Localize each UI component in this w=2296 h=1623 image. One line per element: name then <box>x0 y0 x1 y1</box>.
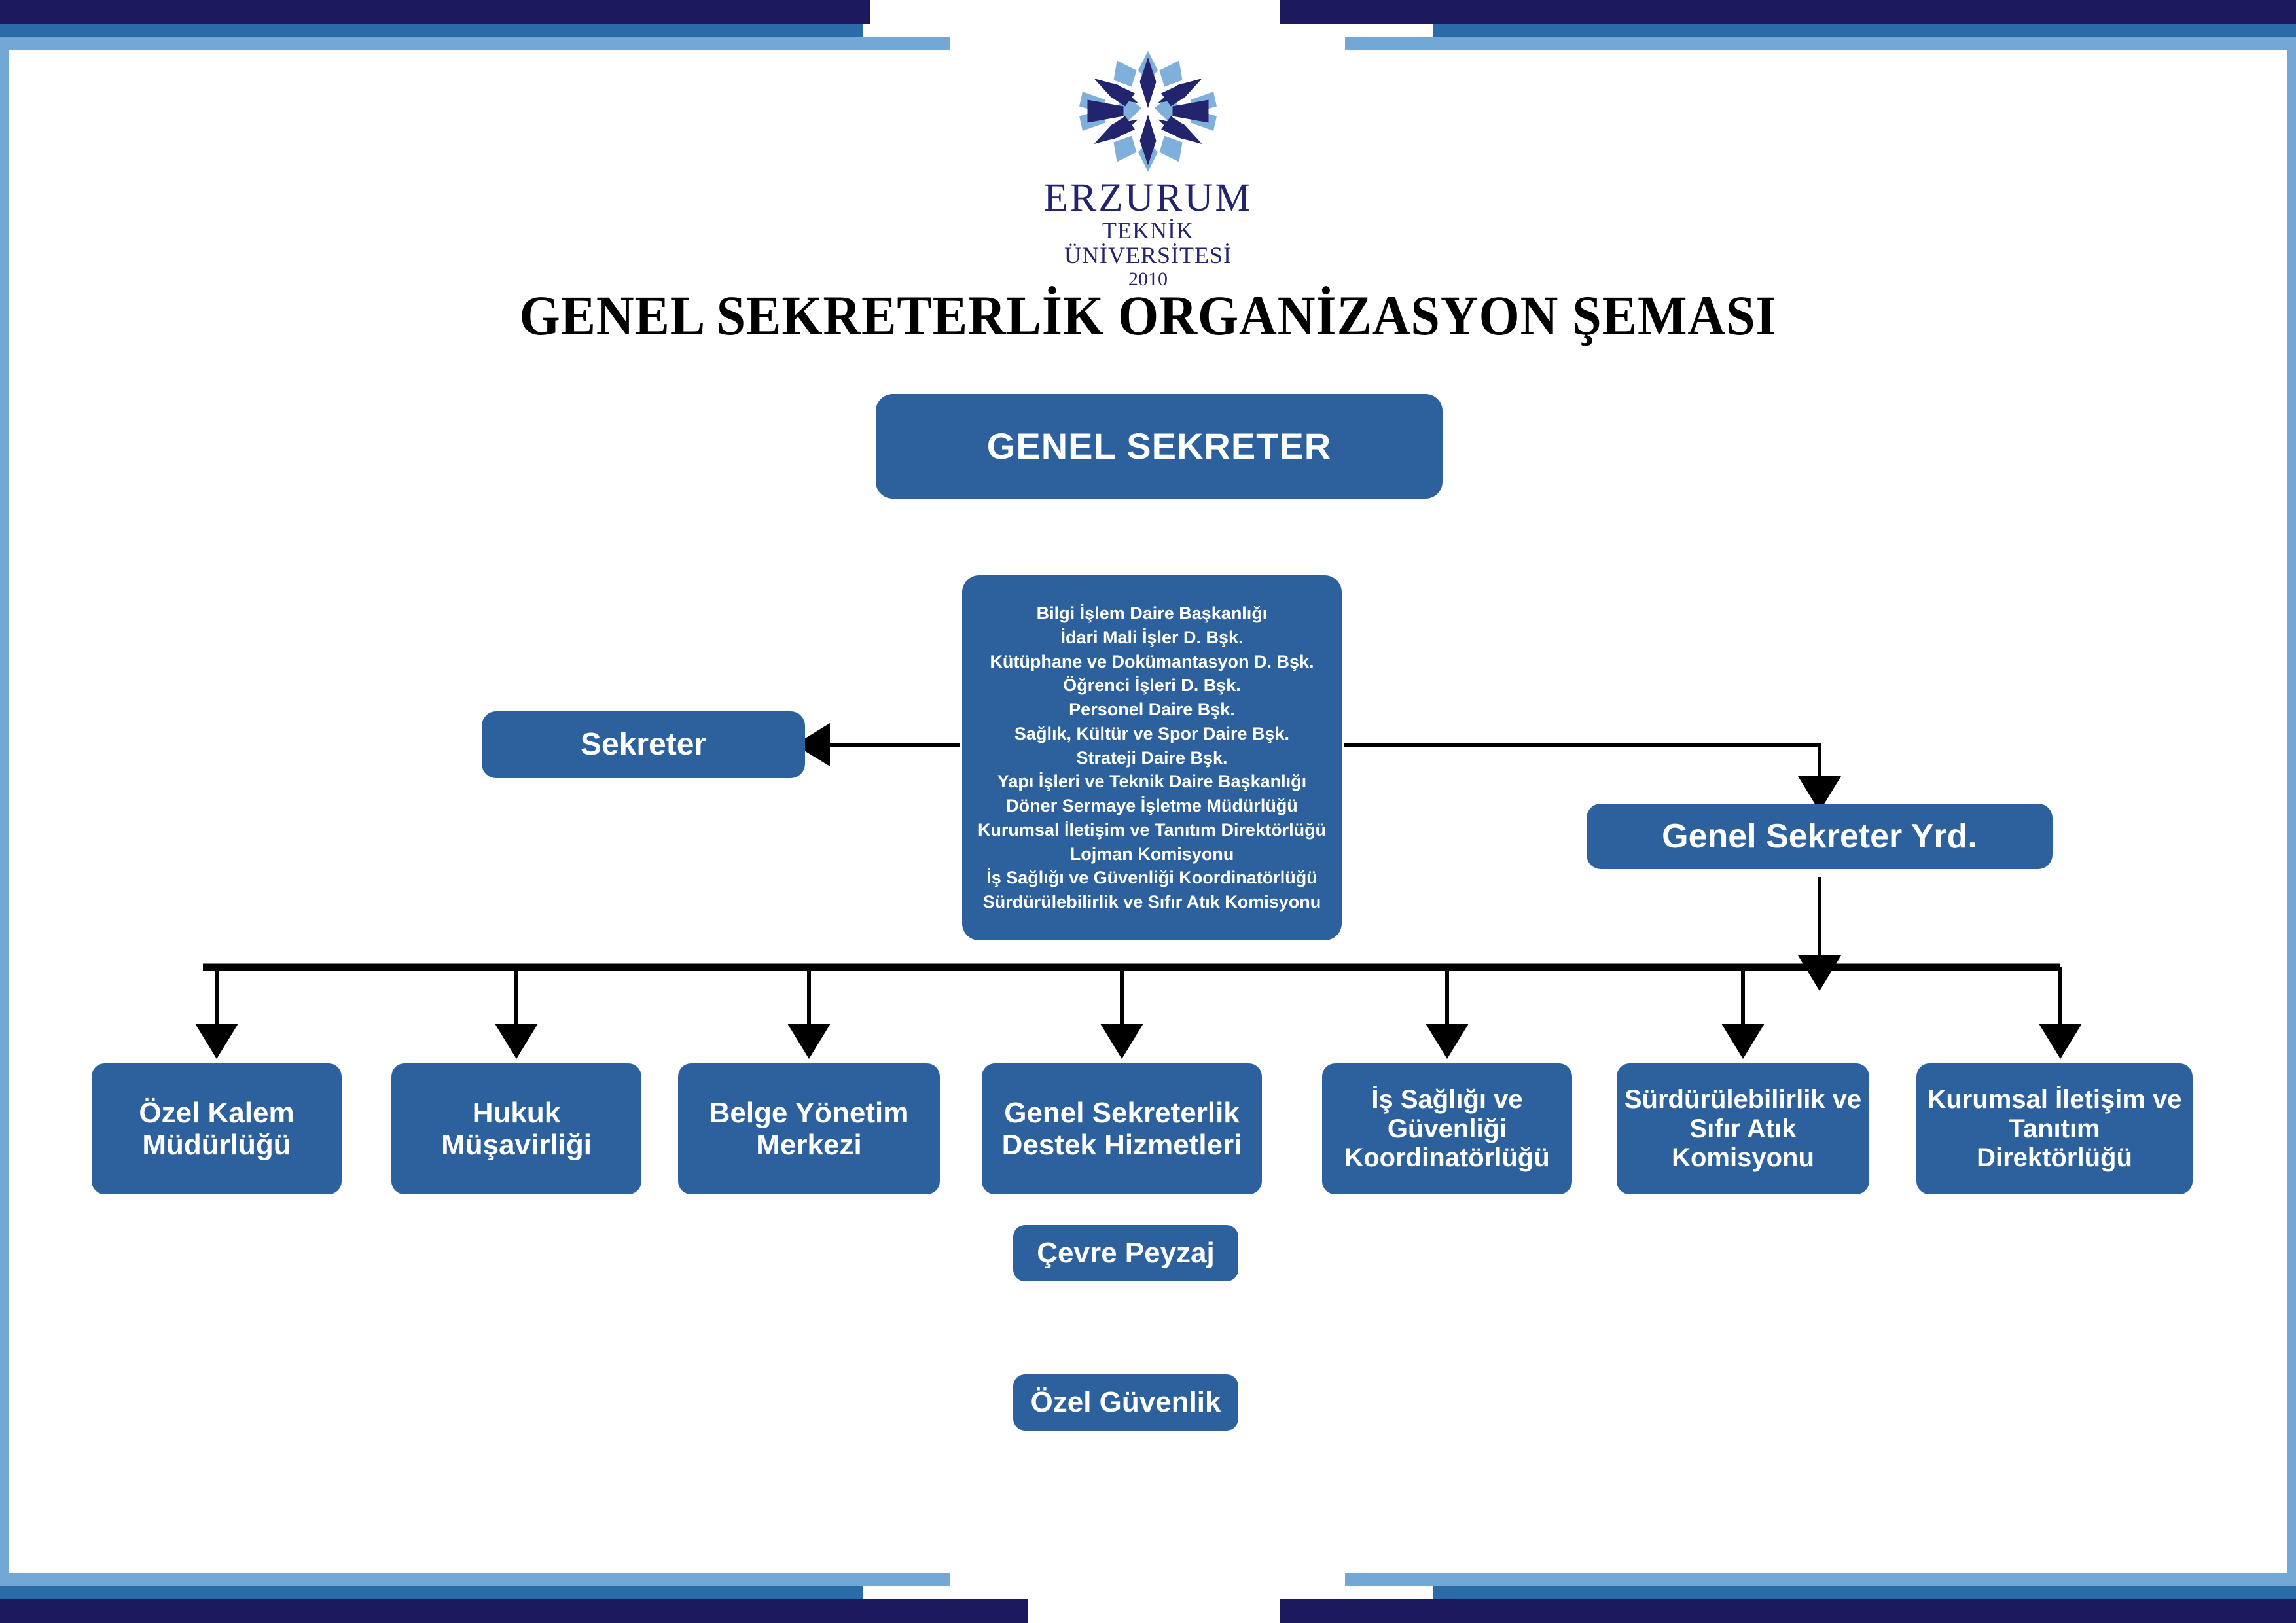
unit-list-item: Yapı İşleri ve Teknik Daire Başkanlığı <box>997 770 1306 794</box>
node-genel-sekreter-yardimcisi[interactable]: Genel Sekreter Yrd. <box>1587 804 2053 869</box>
node-label-line: Sürdürülebilirlik ve <box>1624 1085 1861 1115</box>
frame-bar-top-navy-left <box>0 0 870 24</box>
logo-university-name: ERZURUM <box>1017 178 1279 219</box>
unit-list-item: Sağlık, Kültür ve Spor Daire Bşk. <box>1014 722 1289 746</box>
page-title: GENEL SEKRETERLİK ORGANİZASYON ŞEMASI <box>81 283 2215 348</box>
frame-bar-bottom-navy-left <box>0 1599 1028 1623</box>
node-label-line: Tanıtım <box>1927 1115 2181 1144</box>
node-belge-yonetim-merkezi[interactable]: Belge YönetimMerkezi <box>678 1063 940 1194</box>
frame-bar-top-light-right <box>1345 37 2296 50</box>
frame-stripe-left <box>0 50 9 1573</box>
node-is-sagligi-ve-guvenligi-koordinatorlugu[interactable]: İş Sağlığı veGüvenliğiKoordinatörlüğü <box>1322 1063 1572 1194</box>
node-ozel-guvenlik[interactable]: Özel Güvenlik <box>1013 1374 1238 1431</box>
node-sekreter[interactable]: Sekreter <box>482 711 805 778</box>
unit-list-item: Personel Daire Bşk. <box>1069 698 1235 722</box>
frame-bar-bottom-blue-right <box>1433 1586 2296 1599</box>
unit-list-item: İdari Mali İşler D. Bşk. <box>1060 626 1243 650</box>
node-genel-sekreterlik-destek-hizmetleri[interactable]: Genel SekreterlikDestek Hizmetleri <box>982 1063 1262 1194</box>
frame-bar-bottom-light-right <box>1345 1573 2296 1586</box>
node-bagli-birimler-list[interactable]: Bilgi İşlem Daire Başkanlığıİdari Mali İ… <box>962 575 1342 940</box>
node-label-line: Kurumsal İletişim ve <box>1927 1085 2181 1115</box>
unit-list-item: Sürdürülebilirlik ve Sıfır Atık Komisyon… <box>983 890 1321 914</box>
node-kurumsal-iletisim-ve-tanitim-direktorlugu[interactable]: Kurumsal İletişim veTanıtımDirektörlüğü <box>1916 1063 2193 1194</box>
unit-list-item: Kurumsal İletişim ve Tanıtım Direktörlüğ… <box>978 818 1326 842</box>
snowflake-star-emblem-icon <box>1063 46 1233 177</box>
logo-university-subtitle: TEKNİK ÜNİVERSİTESİ <box>1017 219 1279 268</box>
node-label-line: Sıfır Atık <box>1624 1115 1861 1144</box>
node-label-line: Özel Kalem <box>139 1097 294 1129</box>
edge-units-to-deputy <box>1344 745 1820 780</box>
frame-bar-bottom-blue-left <box>0 1586 863 1599</box>
frame-bar-top-light-left <box>0 37 950 50</box>
frame-bar-top-navy-right <box>1280 0 2296 24</box>
frame-stripe-right <box>2287 50 2296 1573</box>
node-genel-sekreter[interactable]: GENEL SEKRETER <box>876 394 1443 499</box>
node-label-line: Genel Sekreterlik <box>1002 1097 1242 1129</box>
frame-bar-top-blue-right <box>1433 24 2296 37</box>
node-label-line: Müdürlüğü <box>139 1129 294 1161</box>
frame-bar-bottom-light-left <box>0 1573 950 1586</box>
frame-bar-top-blue-left <box>0 24 863 37</box>
unit-list-item: İş Sağlığı ve Güvenliği Koordinatörlüğü <box>986 866 1318 890</box>
node-label-line: Müşavirliği <box>441 1129 592 1161</box>
node-label-line: Komisyonu <box>1624 1143 1861 1173</box>
node-ozel-kalem-mudurlugu[interactable]: Özel KalemMüdürlüğü <box>92 1063 342 1194</box>
node-hukuk-musavirligi[interactable]: HukukMüşavirliği <box>391 1063 641 1194</box>
node-label-line: Belge Yönetim <box>709 1097 909 1129</box>
node-label-line: Hukuk <box>441 1097 592 1129</box>
unit-list-item: Bilgi İşlem Daire Başkanlığı <box>1037 601 1268 626</box>
unit-list-item: Kütüphane ve Dokümantasyon D. Bşk. <box>990 650 1314 674</box>
organization-chart-page: ERZURUM TEKNİK ÜNİVERSİTESİ 2010 GENEL S… <box>0 0 2296 1623</box>
node-label-line: Merkezi <box>709 1129 909 1161</box>
unit-list-item: Döner Sermaye İşletme Müdürlüğü <box>1006 794 1298 818</box>
node-label-line: Koordinatörlüğü <box>1344 1143 1549 1173</box>
unit-list-item: Lojman Komisyonu <box>1070 842 1234 866</box>
node-surdurulebilirlik-ve-sifir-atik-komisyonu[interactable]: Sürdürülebilirlik veSıfır AtıkKomisyonu <box>1617 1063 1869 1194</box>
node-label-line: Direktörlüğü <box>1927 1143 2181 1173</box>
node-label-line: Güvenliği <box>1344 1115 1549 1144</box>
node-label-line: Destek Hizmetleri <box>1002 1129 1242 1161</box>
frame-bar-bottom-navy-right <box>1280 1599 2296 1623</box>
unit-list-item: Strateji Daire Bşk. <box>1076 746 1227 770</box>
unit-list-item: Öğrenci İşleri D. Bşk. <box>1063 673 1241 698</box>
node-label-line: İş Sağlığı ve <box>1344 1085 1549 1115</box>
node-cevre-peyzaj[interactable]: Çevre Peyzaj <box>1013 1225 1238 1281</box>
university-logo: ERZURUM TEKNİK ÜNİVERSİTESİ 2010 <box>1017 46 1279 268</box>
